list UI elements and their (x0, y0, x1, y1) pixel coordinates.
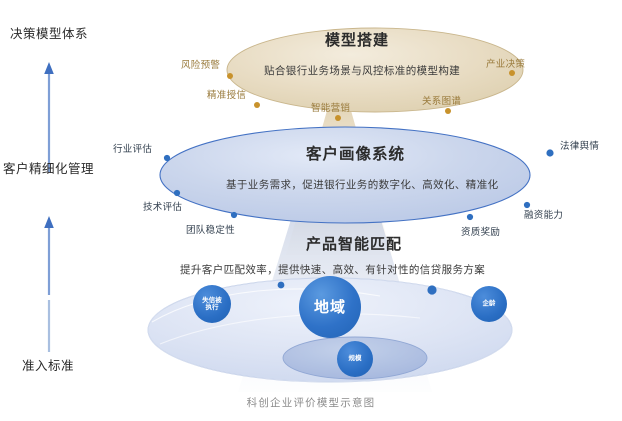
dot-bottom-left (278, 282, 285, 289)
diagram-caption: 科创企业评价模型示意图 (0, 395, 622, 410)
diagram-canvas: 决策模型体系 客户精细化管理 准入标准 模型搭建 贴合银行业务场景与风控标准的模… (0, 0, 622, 421)
bottom-dots-layer (0, 0, 622, 421)
dot-bottom-right (427, 285, 436, 294)
